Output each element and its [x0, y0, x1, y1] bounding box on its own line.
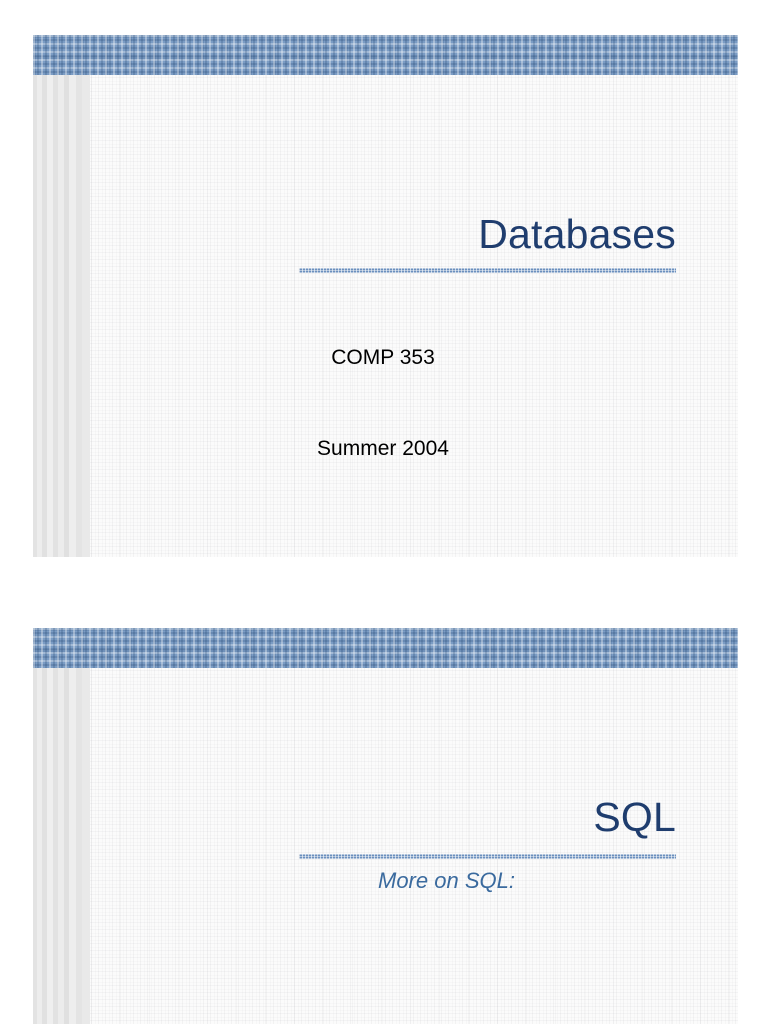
subtitle-term: Summer 2004	[90, 438, 676, 459]
page-title: SQL	[90, 797, 676, 838]
slide-header-band	[33, 628, 738, 668]
slide-left-stripe-gutter	[33, 75, 90, 557]
slide-deck: Databases COMP 353 Summer 2004 SQL More …	[0, 0, 768, 1024]
subtitle-course-code: COMP 353	[90, 347, 676, 368]
page-title: Databases	[90, 214, 676, 255]
slide-title[interactable]: Databases COMP 353 Summer 2004	[33, 35, 738, 557]
slide-content-area: Databases COMP 353 Summer 2004	[90, 75, 738, 557]
title-underline-rule	[299, 854, 676, 859]
slide-content-area: SQL More on SQL:	[90, 668, 738, 1024]
slide-header-band	[33, 35, 738, 75]
body-line: More on SQL:	[378, 870, 515, 892]
slide-left-stripe-gutter	[33, 668, 90, 1024]
title-underline-rule	[299, 268, 676, 273]
slide-sql[interactable]: SQL More on SQL:	[33, 628, 738, 1024]
